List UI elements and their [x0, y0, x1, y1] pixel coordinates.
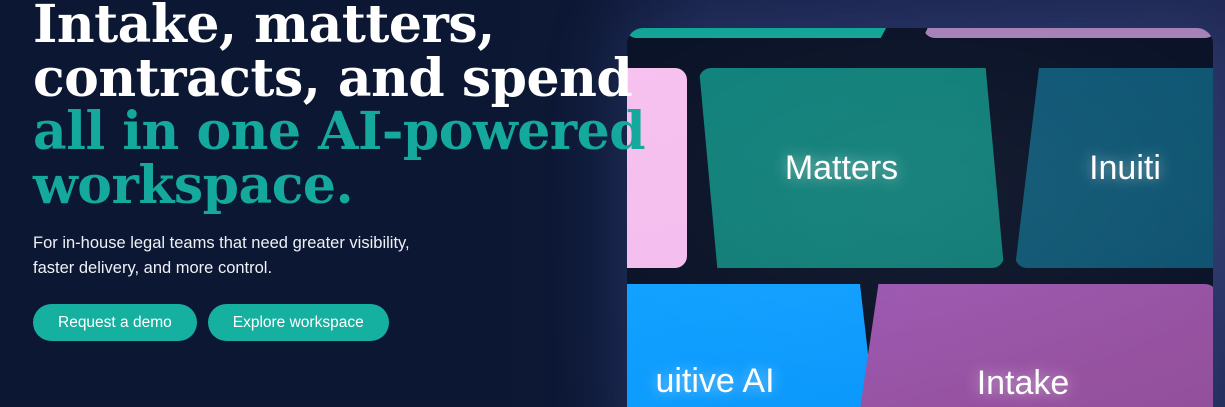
hero-subtitle: For in-house legal teams that need great… [33, 231, 613, 280]
mosaic-tile-intake: Intake [849, 284, 1213, 407]
mosaic-tile-label: Matters [785, 149, 898, 188]
hero-button-row: Request a demo Explore workspace [33, 304, 613, 341]
headline-line-2: contracts, and spend [33, 52, 613, 106]
subtitle-line-1: For in-house legal teams that need great… [33, 231, 613, 255]
page-title: Intake, matters, contracts, and spend al… [33, 0, 613, 212]
mosaic-tile-strip-purple [923, 28, 1213, 38]
mosaic-tile-label: uitive AI [655, 362, 774, 401]
mosaic-tile-label: Intake [977, 364, 1070, 403]
mosaic-tile-intuitive-ai: uitive AI [627, 284, 883, 407]
mosaic-tile-label: Inuiti [1089, 149, 1161, 188]
mosaic-tile-intuitive: Inuiti [1015, 68, 1213, 268]
hero-copy-column: Intake, matters, contracts, and spend al… [33, 0, 613, 407]
hero-section: Intake, matters, contracts, and spend al… [0, 0, 1225, 407]
mosaic-tile-pink [627, 68, 687, 268]
headline-line-4: workspace. [33, 159, 613, 213]
headline-line-1: Intake, matters, [33, 0, 613, 52]
mosaic-tile-strip-teal [627, 28, 900, 38]
subtitle-line-2: faster delivery, and more control. [33, 256, 613, 280]
mosaic-graphic-card: Matters Inuiti uitive AI Intake [627, 28, 1213, 407]
headline-line-3: all in one AI-powered [33, 105, 613, 159]
explore-workspace-button[interactable]: Explore workspace [208, 304, 389, 341]
request-demo-button[interactable]: Request a demo [33, 304, 197, 341]
mosaic-tile-matters: Matters [699, 68, 1004, 268]
